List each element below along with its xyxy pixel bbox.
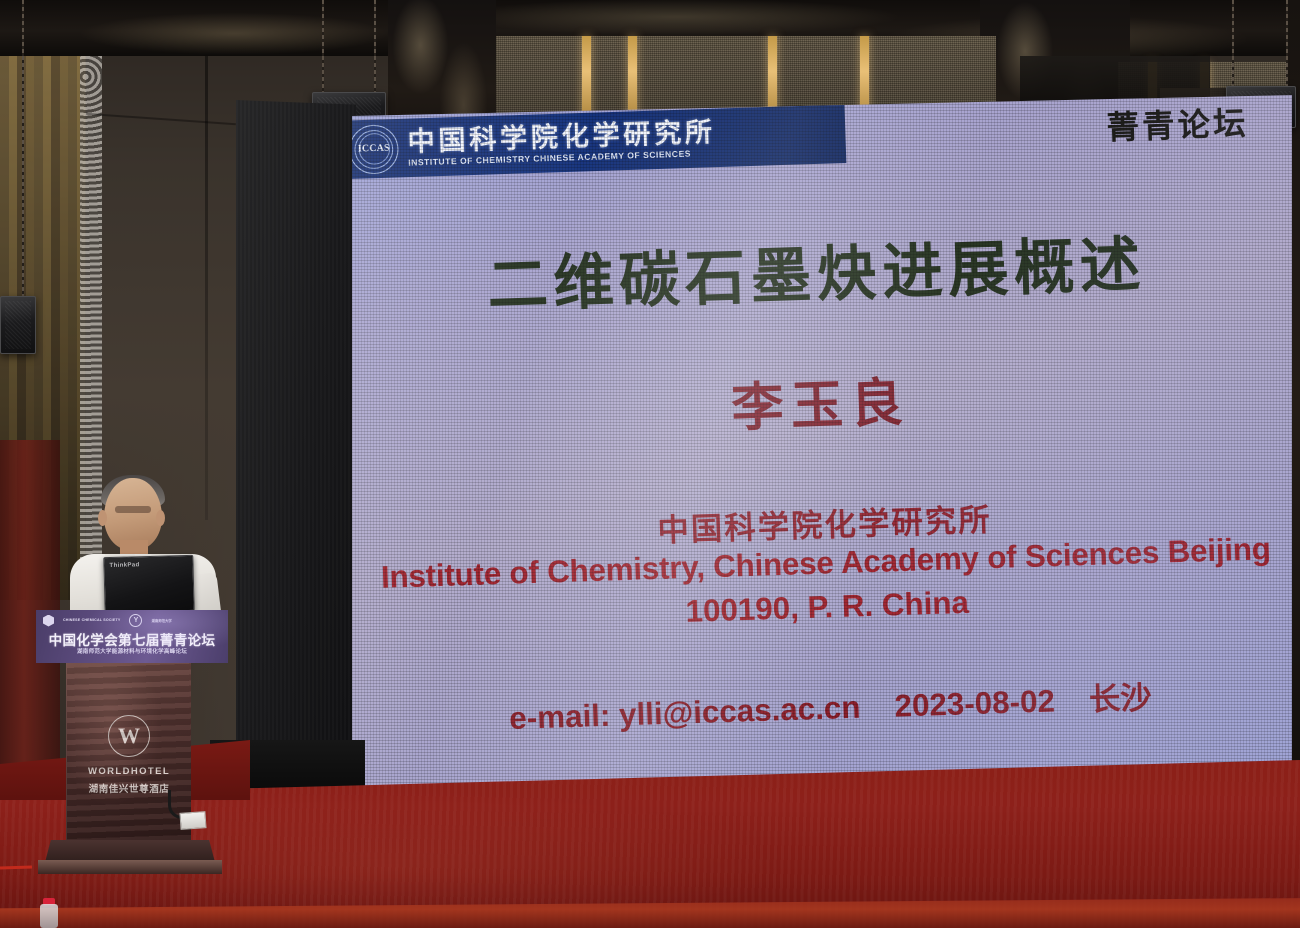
university-logo-label: 湖南师范大学 [151,618,171,623]
slide-content: ICCAS 中国科学院化学研究所 INSTITUTE OF CHEMISTRY … [352,95,1292,795]
presenter-face-shadow [115,506,151,513]
hanging-speaker-far-left [0,296,36,354]
university-logo-icon [129,614,142,627]
slide-speaker-name: 李玉良 [352,348,1292,455]
wall-corner-edge [205,0,208,520]
chinese-chemical-society-label: CHINESE CHEMICAL SOCIETY [63,618,120,622]
presenter-ear-right [156,510,165,526]
podium-org-logos: CHINESE CHEMICAL SOCIETY 湖南师范大学 [43,614,172,627]
presenter-ear-left [98,510,107,526]
power-adapter-box [179,811,206,830]
forum-tag-label: 菁青论坛 [1106,97,1250,149]
led-screen: ICCAS 中国科学院化学研究所 INSTITUTE OF CHEMISTRY … [352,95,1292,795]
presentation-city: 长沙 [1088,681,1152,717]
water-bottle [38,898,60,928]
laptop-brand-mark: ThinkPad [109,562,139,569]
podium-banner: CHINESE CHEMICAL SOCIETY 湖南师范大学 中国化学会第七届… [36,610,228,663]
podium-banner-subtitle: 湖南师范大学能源材料与环境化学高峰论坛 [36,647,228,655]
slide-contact-line: e-mail: ylli@iccas.ac.cn 2023-08-02 长沙 [352,666,1292,744]
podium-plinth-lower [38,860,222,874]
podium-banner-title: 中国化学会第七届菁青论坛 [36,629,228,649]
email-address: ylli@iccas.ac.cn [619,691,861,733]
presentation-date: 2023-08-02 [894,684,1055,724]
hotel-name-en: WORLDHOTEL [67,766,191,777]
water-bottle-body [40,904,58,928]
laptop: ThinkPad [103,555,194,613]
contact-spacer-2 [1064,711,1081,712]
speaker-chain-left-a [322,0,324,92]
slide-title: 二维碳石墨炔进展概述 [352,210,1292,329]
hotel-branding: W WORLDHOTEL 湖南佳兴世尊酒店 [67,715,191,795]
podium-body: W WORLDHOTEL 湖南佳兴世尊酒店 [66,663,191,843]
iccas-logo-icon: ICCAS [352,124,399,175]
email-label: e-mail: [509,699,611,737]
slide-header-text-group: 中国科学院化学研究所 INSTITUTE OF CHEMISTRY CHINES… [407,118,716,168]
speaker-chain-right-b [1286,0,1288,86]
stage-dark-panel [236,100,356,785]
contact-spacer-1 [869,717,886,718]
speaker-chain-far-left [22,0,24,300]
worldhotel-monogram-icon: W [108,715,150,757]
speaker-chain-left-b [374,0,376,92]
iccas-logo-label: ICCAS [358,143,390,154]
podium: CHINESE CHEMICAL SOCIETY 湖南师范大学 中国化学会第七届… [36,610,228,875]
slide-header-bar: ICCAS 中国科学院化学研究所 INSTITUTE OF CHEMISTRY … [352,104,846,179]
speaker-chain-right-a [1232,0,1234,86]
chinese-chemical-society-icon [43,615,54,627]
presentation-photo-scene: ICCAS 中国科学院化学研究所 INSTITUTE OF CHEMISTRY … [0,0,1300,928]
